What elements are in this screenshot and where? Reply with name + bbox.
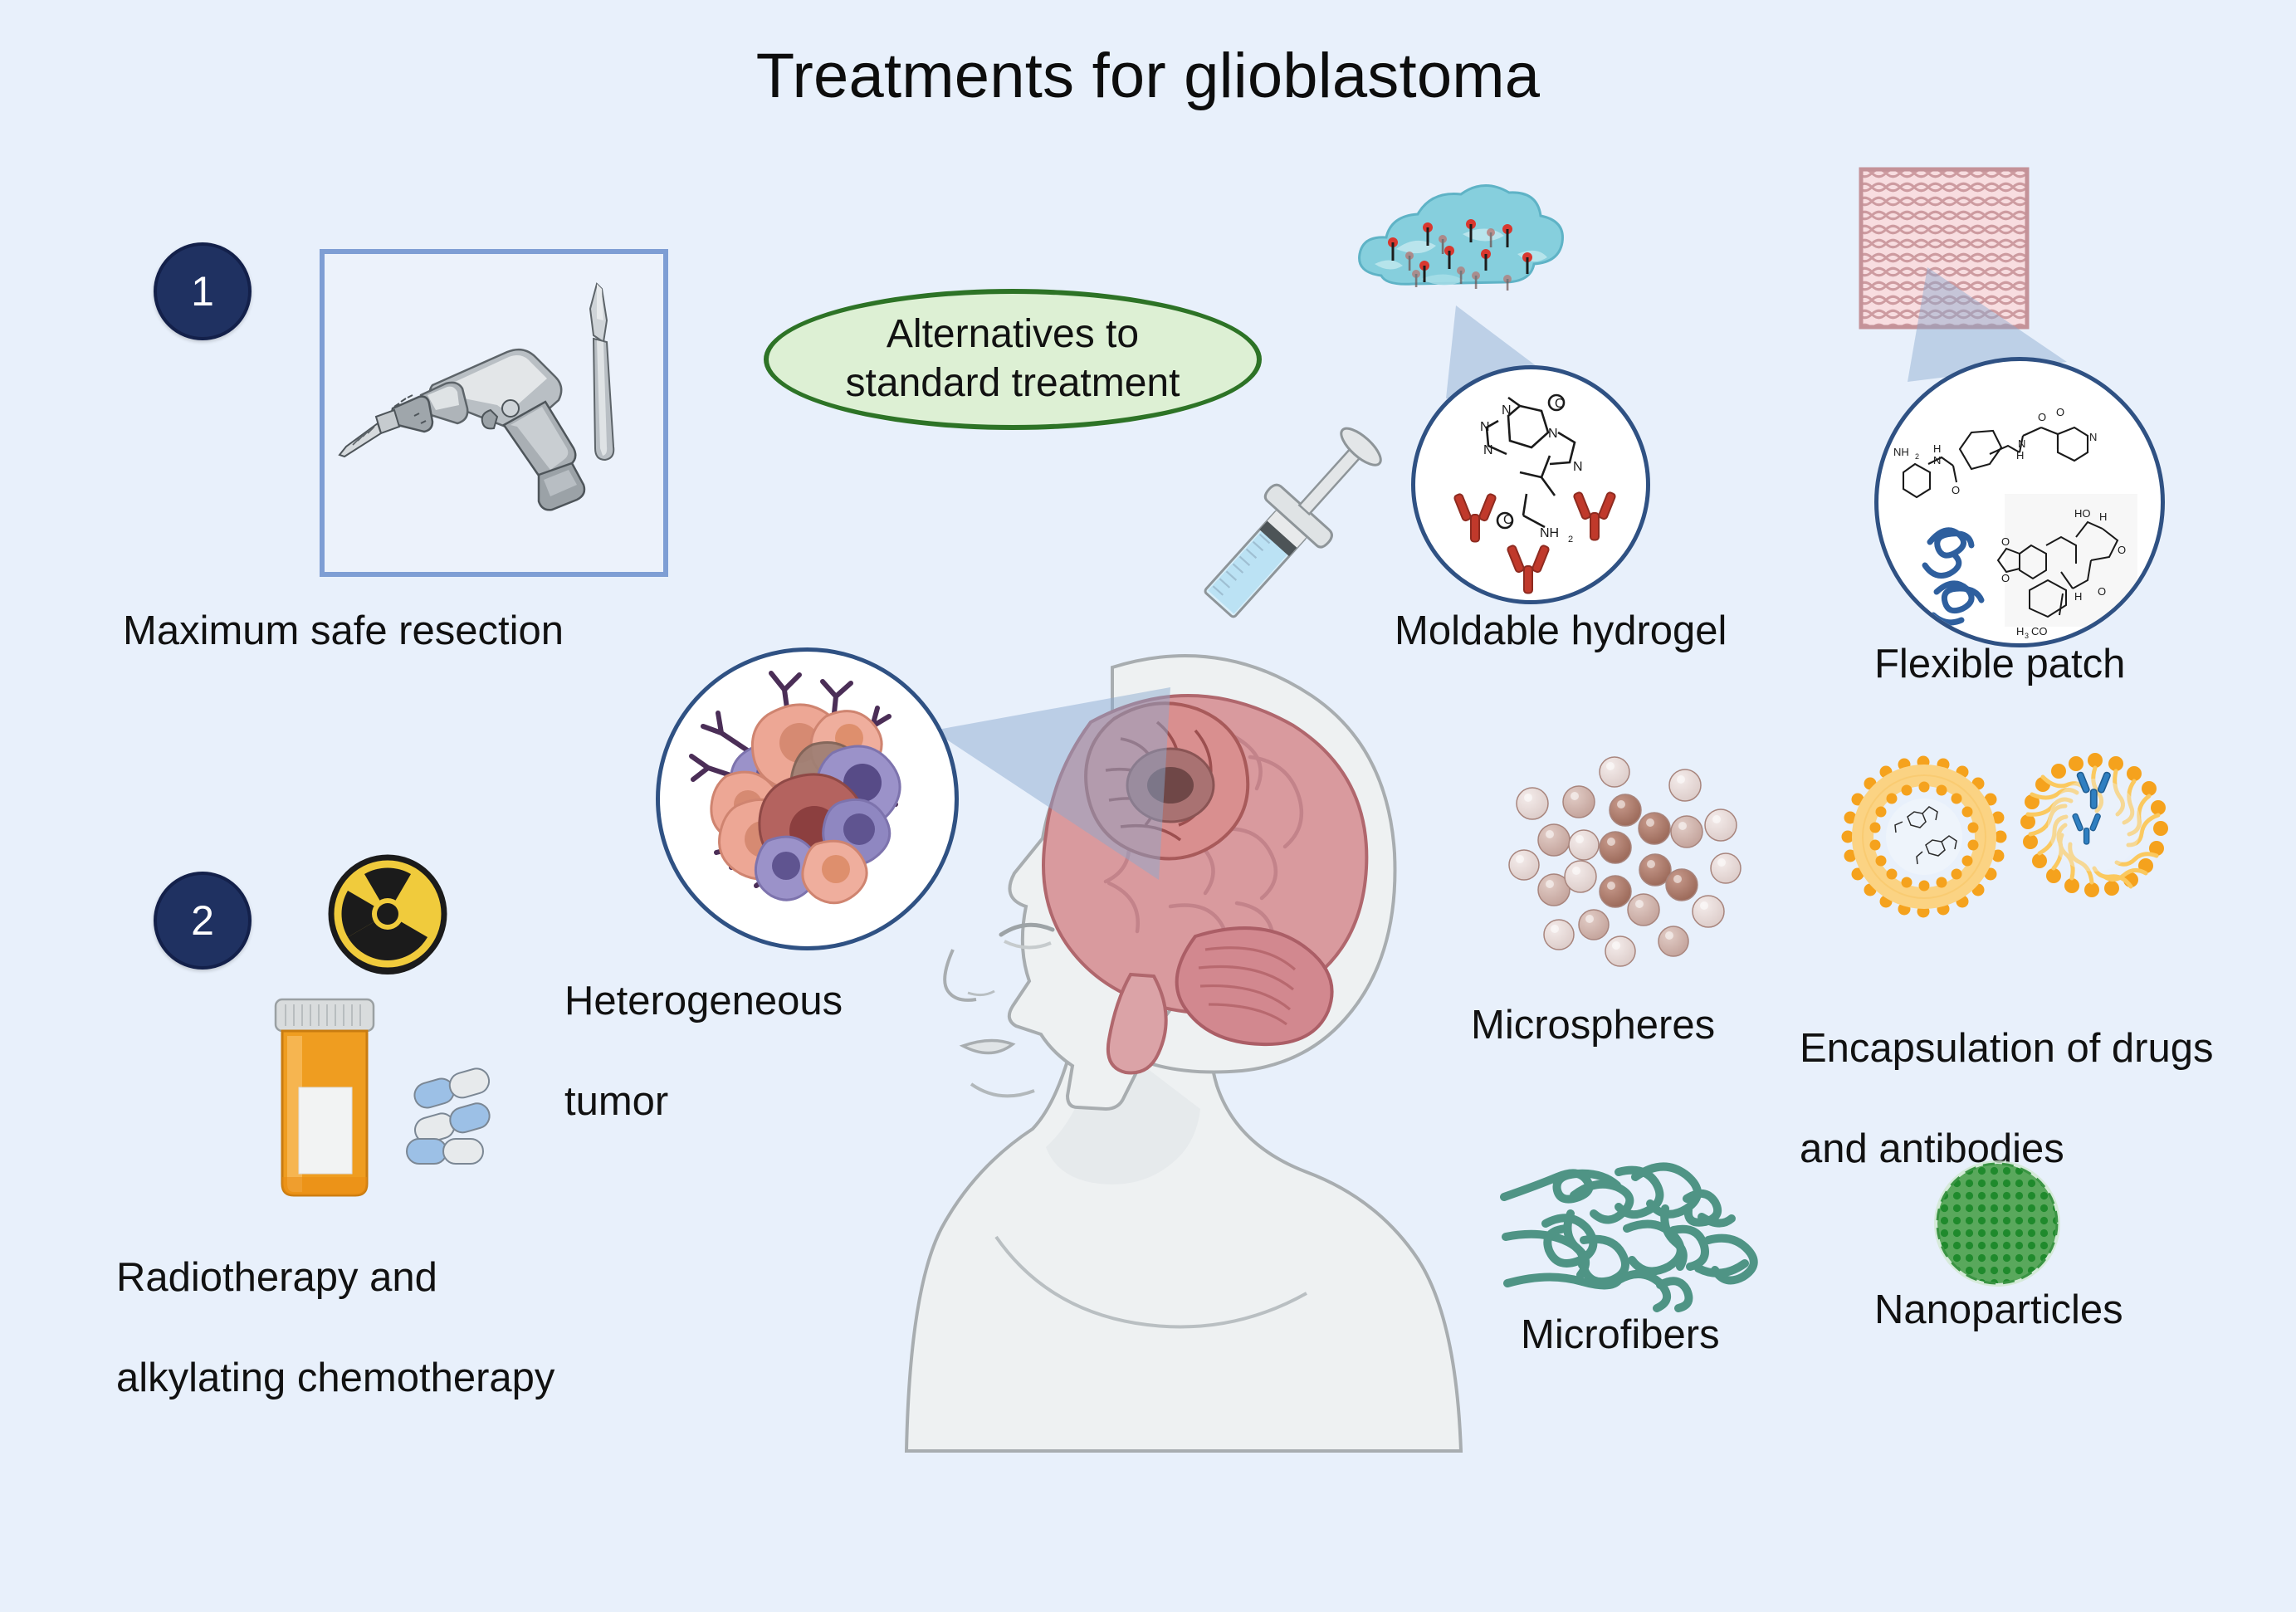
- liposome-with-drug: [1842, 756, 2007, 918]
- svg-text:N: N: [1502, 403, 1512, 418]
- alternatives-callout: Alternatives to standard treatment: [764, 289, 1262, 430]
- figure-canvas: Treatments for glioblastoma 1: [0, 0, 2296, 1612]
- caption-tumor-line2: tumor: [564, 1079, 668, 1124]
- step-badge-2: 2: [154, 872, 252, 970]
- capsule-pills-icon: [402, 1069, 510, 1169]
- svg-text:H: H: [2016, 449, 2024, 462]
- microspheres-art: [1486, 739, 1751, 979]
- encapsulation-art: [1836, 747, 2193, 955]
- svg-text:H: H: [2016, 625, 2024, 637]
- svg-text:O: O: [2038, 411, 2046, 423]
- svg-text:NH: NH: [1540, 526, 1559, 540]
- svg-text:N: N: [1483, 443, 1493, 457]
- svg-text:O: O: [2118, 544, 2126, 556]
- microfibers-art: [1494, 1137, 1768, 1303]
- caption-encapsulation: Encapsulation of drugs and antibodies: [1800, 973, 2264, 1175]
- maximum-safe-resection-panel: [320, 249, 668, 577]
- micelle-with-antibody: [2020, 753, 2168, 897]
- svg-text:OCH: OCH: [2093, 625, 2117, 637]
- svg-text:H: H: [2099, 510, 2107, 523]
- surgical-drill-icon: [340, 349, 584, 510]
- svg-text:N: N: [1480, 420, 1490, 434]
- caption-moldable-hydrogel: Moldable hydrogel: [1395, 606, 1826, 657]
- caption-maximum-safe-resection: Maximum safe resection: [123, 606, 654, 657]
- caption-heterogeneous-tumor: Heterogeneous tumor: [564, 926, 913, 1127]
- caption-microfibers: Microfibers: [1521, 1310, 1803, 1360]
- caption-microspheres: Microspheres: [1471, 1000, 1786, 1051]
- alternatives-callout-line1: Alternatives to: [846, 310, 1180, 359]
- hydrogel-molecule-callout: N N N N N O O NH 2: [1411, 365, 1650, 604]
- caption-radiochemo-line1: Radiotherapy and: [116, 1255, 437, 1300]
- svg-text:O: O: [2098, 585, 2106, 598]
- alternatives-callout-line2: standard treatment: [846, 359, 1180, 408]
- nanoparticles-art: [1926, 1152, 2075, 1302]
- svg-text:O: O: [2001, 572, 2010, 584]
- radiation-hazard-icon: [325, 853, 450, 978]
- svg-text:N: N: [2089, 431, 2097, 443]
- svg-text:N: N: [1548, 427, 1558, 441]
- svg-text:N: N: [1933, 454, 1941, 467]
- caption-radiotherapy-chemotherapy: Radiotherapy and alkylating chemotherapy: [116, 1202, 664, 1404]
- patch-molecule-callout: NH 2 H N O N H O O N: [1874, 357, 2165, 647]
- svg-text:2: 2: [1915, 452, 1919, 461]
- svg-text:O: O: [2001, 535, 2010, 548]
- caption-radiochemo-line2: alkylating chemotherapy: [116, 1356, 554, 1400]
- svg-text:NH: NH: [1893, 446, 1909, 458]
- caption-tumor-line1: Heterogeneous: [564, 979, 843, 1023]
- step-badge-1: 1: [154, 242, 252, 340]
- svg-text:O: O: [2056, 406, 2064, 418]
- caption-encaps-line1: Encapsulation of drugs: [1800, 1026, 2214, 1071]
- scalpel-icon: [590, 284, 613, 460]
- caption-nanoparticles: Nanoparticles: [1874, 1285, 2206, 1336]
- svg-text:H: H: [1933, 442, 1941, 455]
- pill-bottle-icon: [267, 996, 383, 1204]
- svg-text:H: H: [2074, 590, 2082, 603]
- page-title: Treatments for glioblastoma: [0, 40, 2296, 112]
- surgical-tools-art: [333, 271, 665, 569]
- step-badge-1-label: 1: [191, 267, 214, 315]
- svg-text:N: N: [2018, 437, 2025, 450]
- step-badge-2-label: 2: [191, 896, 214, 945]
- svg-text:O: O: [1952, 484, 1960, 496]
- svg-text:N: N: [1573, 460, 1583, 474]
- svg-text:2: 2: [1568, 535, 1573, 545]
- heterogeneous-tumor-callout: [656, 647, 959, 950]
- svg-text:HO: HO: [2074, 507, 2091, 520]
- syringe-icon: [1162, 448, 1353, 672]
- tumor-callout-cone: [921, 681, 1204, 946]
- caption-flexible-patch: Flexible patch: [1874, 639, 2223, 690]
- svg-text:CO: CO: [2031, 625, 2048, 637]
